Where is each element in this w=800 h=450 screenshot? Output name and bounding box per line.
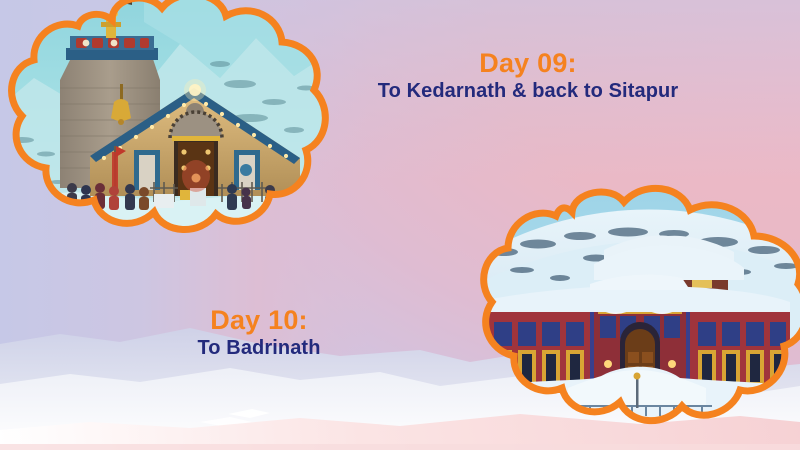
kedarnath-photo-frame: [0, 0, 334, 254]
day-09-label: Day 09:: [352, 48, 704, 78]
day-10-destination: To Badrinath: [148, 337, 370, 359]
caption-day-10: Day 10: To Badrinath: [148, 305, 370, 360]
caption-day-09: Day 09: To Kedarnath & back to Sitapur: [352, 48, 704, 103]
day-10-label: Day 10:: [148, 305, 370, 335]
day-09-destination: To Kedarnath & back to Sitapur: [352, 80, 704, 102]
badrinath-photo-frame: [468, 192, 800, 428]
slide-canvas: Day 09: To Kedarnath & back to Sitapur D…: [0, 0, 800, 450]
